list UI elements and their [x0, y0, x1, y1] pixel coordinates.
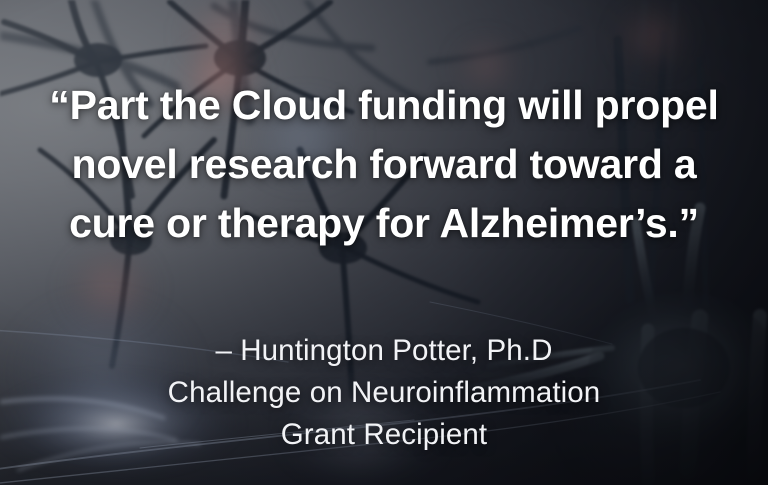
- quote-card: “Part the Cloud funding will propel nove…: [0, 0, 768, 485]
- quote-content: “Part the Cloud funding will propel nove…: [0, 0, 768, 485]
- attribution-name: – Huntington Potter, Ph.D: [24, 330, 744, 372]
- quote-line-1: “Part the Cloud funding will propel: [24, 76, 744, 135]
- attribution-role: Grant Recipient: [24, 414, 744, 456]
- quote-text: “Part the Cloud funding will propel nove…: [24, 76, 744, 253]
- quote-line-3: cure or therapy for Alzheimer’s.”: [24, 194, 744, 253]
- attribution-program: Challenge on Neuroinflammation: [24, 372, 744, 414]
- quote-line-2: novel research forward toward a: [24, 135, 744, 194]
- quote-attribution: – Huntington Potter, Ph.D Challenge on N…: [24, 330, 744, 456]
